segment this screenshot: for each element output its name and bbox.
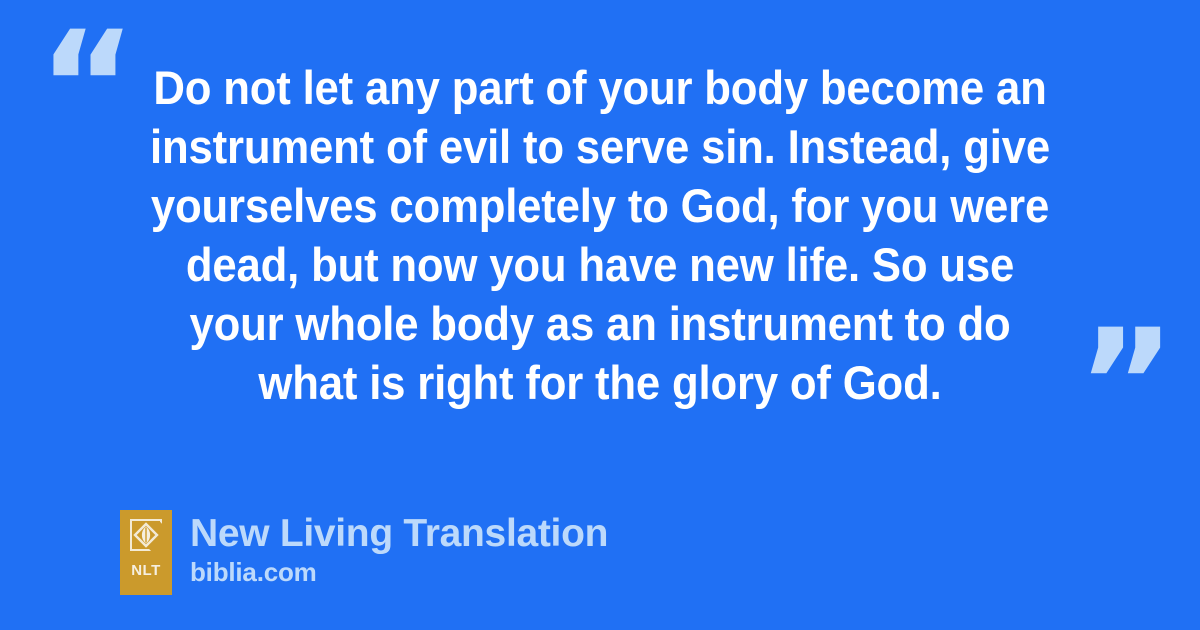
nlt-badge: NLT <box>120 510 172 595</box>
closing-quote-icon: ” <box>1077 310 1174 460</box>
nlt-abbreviation-label: NLT <box>131 563 161 578</box>
diamond-leaf-emblem-icon <box>130 519 162 551</box>
site-url[interactable]: biblia.com <box>190 557 608 587</box>
verse-text: Do not let any part of your body become … <box>135 58 1065 412</box>
attribution: NLT New Living Translation biblia.com <box>120 510 608 595</box>
verse-block: Do not let any part of your body become … <box>100 58 1100 412</box>
verse-quote-card: “ Do not let any part of your body becom… <box>0 0 1200 630</box>
attribution-text: New Living Translation biblia.com <box>190 510 608 587</box>
translation-name: New Living Translation <box>190 512 608 556</box>
